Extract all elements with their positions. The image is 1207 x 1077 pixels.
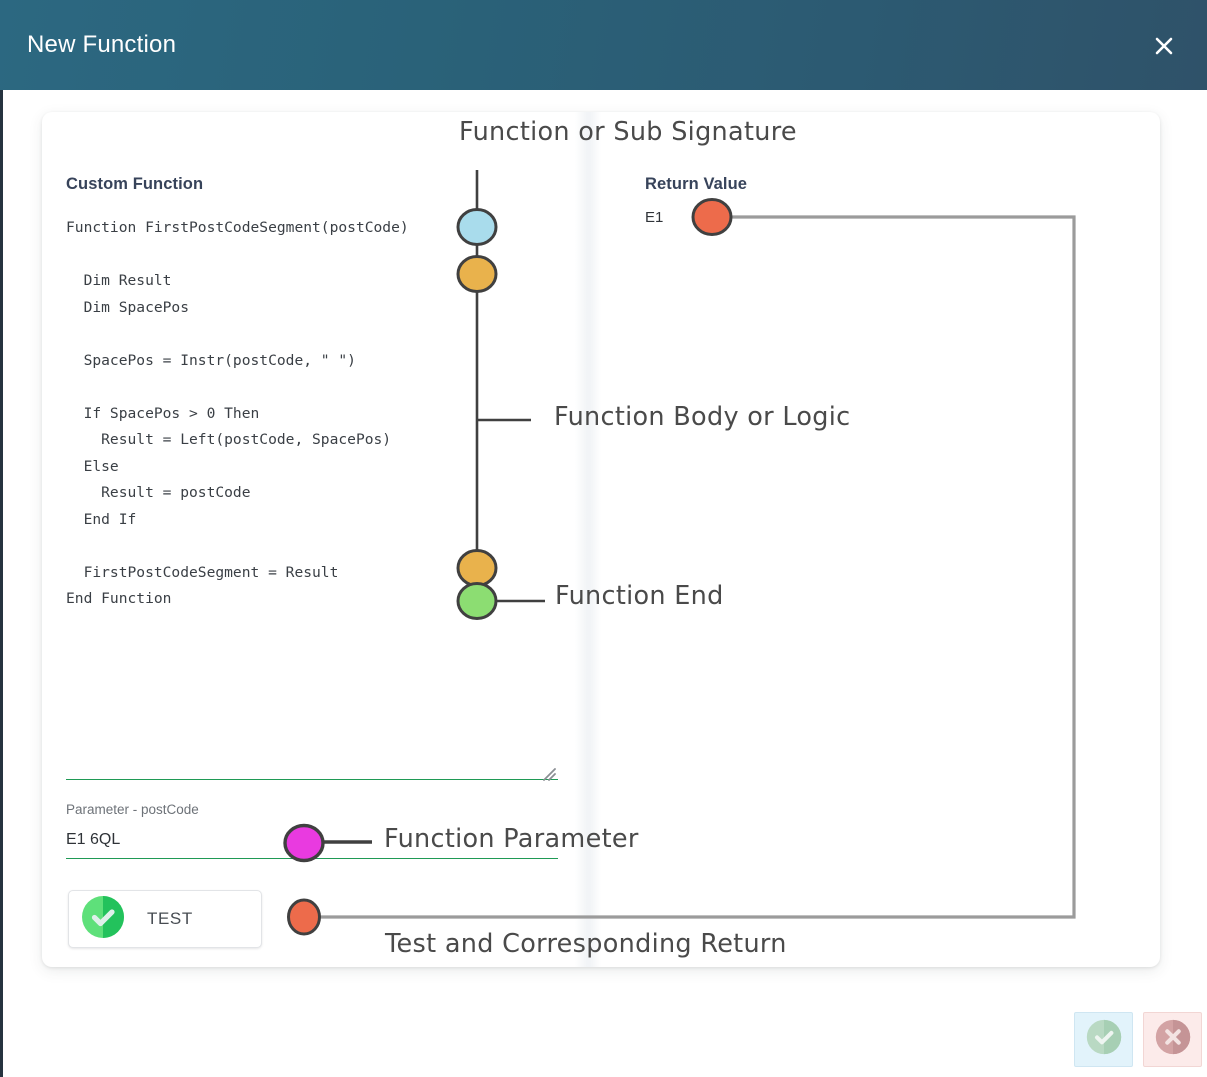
test-button-label: TEST (147, 909, 193, 929)
footer-actions (1074, 1012, 1202, 1067)
close-icon (1153, 35, 1175, 57)
x-circle-icon (1155, 1019, 1191, 1060)
cancel-button[interactable] (1143, 1012, 1202, 1067)
dialog-header: New Function (0, 0, 1207, 90)
annotation-parameter: Function Parameter (384, 824, 639, 854)
annotation-signature: Function or Sub Signature (459, 117, 797, 147)
function-code-editor[interactable]: Function FirstPostCodeSegment(postCode) … (66, 215, 536, 613)
resize-grip-icon[interactable] (541, 768, 557, 781)
check-circle-icon (1086, 1019, 1122, 1060)
return-value-heading: Return Value (645, 175, 747, 194)
annotation-body: Function Body or Logic (554, 402, 851, 432)
test-button[interactable]: TEST (68, 890, 262, 948)
green-check-circle-icon (81, 895, 125, 944)
parameter-underline (66, 858, 558, 859)
confirm-button[interactable] (1074, 1012, 1133, 1067)
close-button[interactable] (1143, 26, 1185, 66)
dialog-title: New Function (27, 31, 176, 59)
code-editor-underline (66, 779, 558, 780)
parameter-input[interactable]: E1 6QL (66, 831, 120, 849)
return-value-output: E1 (645, 209, 663, 226)
annotation-test: Test and Corresponding Return (385, 929, 787, 959)
custom-function-heading: Custom Function (66, 175, 203, 194)
parameter-label: Parameter - postCode (66, 802, 199, 817)
annotation-end: Function End (555, 581, 724, 611)
